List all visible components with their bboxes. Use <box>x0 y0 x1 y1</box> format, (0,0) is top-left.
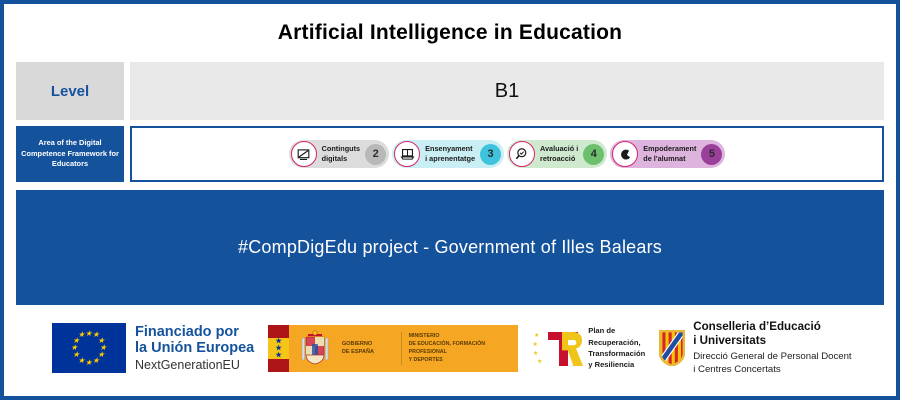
eu-star: ★ <box>275 338 281 345</box>
eu-star: ★ <box>85 359 92 367</box>
level-value-cell: B1 <box>130 62 884 120</box>
spain-gov-banner: ★ ★ ★ <box>268 325 518 372</box>
competence-badge-text: Empoderament de l'alumnat <box>643 144 696 164</box>
eu-star: ★ <box>72 351 79 359</box>
eu-star: ★ <box>78 331 85 339</box>
badge-line-2: de l'alumnat <box>643 154 685 163</box>
conselleria-line-1: Conselleria d’Educació <box>693 320 851 334</box>
competence-badge-ensenyament-i-aprenentatge[interactable]: Ensenyament i aprenentatge 3 <box>392 140 504 168</box>
eu-flag-icon: ★★★★★★★★★★★★ <box>52 323 126 373</box>
min-line-2: DE EDUCACIÓN, FORMACIÓN PROFESIONAL <box>409 340 519 356</box>
logo-conselleria-educacio: Conselleria d’Educació i Universitats Di… <box>659 320 851 377</box>
badge-line-1: Empoderament <box>643 144 696 153</box>
badge-line-2: retroacció <box>540 154 575 163</box>
level-label-cell: Level <box>16 62 124 120</box>
infographic-card: Artificial Intelligence in Education Lev… <box>0 0 900 400</box>
conselleria-text: Conselleria d’Educació i Universitats Di… <box>693 320 851 377</box>
footer-logos: ★★★★★★★★★★★★ Financiado por la Unión Eur… <box>4 305 896 391</box>
stripe-red-bottom <box>268 359 289 372</box>
stripe-yellow-stars: ★ ★ ★ <box>268 338 289 359</box>
spain-flag-stripes: ★ ★ ★ <box>268 325 289 372</box>
competence-badge-text: Ensenyament i aprenentatge <box>425 144 475 164</box>
conselleria-line-2: i Universitats <box>693 334 851 348</box>
eu-star: ★ <box>275 345 281 352</box>
level-value: B1 <box>495 80 519 103</box>
min-line-1: MINISTERIO <box>409 332 519 340</box>
eu-star: ★ <box>92 357 99 365</box>
logo-european-union: ★★★★★★★★★★★★ Financiado por la Unión Eur… <box>52 323 254 373</box>
eu-line-1: Financiado por <box>135 324 254 340</box>
stripe-red-top <box>268 325 289 338</box>
eu-logo-text: Financiado por la Unión Europea NextGene… <box>135 324 254 372</box>
prtr-monogram-icon: ★ ★ ★ ★ <box>532 325 584 371</box>
badge-line-1: Avaluació i <box>540 144 578 153</box>
ministerio-text: MINISTERIO DE EDUCACIÓN, FORMACIÓN PROFE… <box>402 325 519 372</box>
competence-badge-avaluacio-i-retroaccio[interactable]: Avaluació i retroacció 4 <box>507 140 607 168</box>
project-banner: #CompDigEdu project - Government of Ille… <box>16 190 884 305</box>
competence-badge-number: 5 <box>701 144 722 165</box>
eu-star: ★ <box>275 352 281 359</box>
project-banner-text: #CompDigEdu project - Government of Ille… <box>238 237 662 258</box>
prtr-text: Plan de Recuperación, Transformación y R… <box>588 325 645 371</box>
prtr-line-4: y Resiliencia <box>588 359 645 370</box>
spain-coat-of-arms-icon <box>289 325 342 372</box>
competence-badge-number: 3 <box>480 144 501 165</box>
prtr-line-3: Transformación <box>588 348 645 359</box>
logo-plan-recuperacion: ★ ★ ★ ★ Plan de Recuperación, Transforma… <box>532 325 645 371</box>
conselleria-line-3: Direcció General de Personal Docent <box>693 351 851 364</box>
prtr-line-2: Recuperación, <box>588 337 645 348</box>
eu-line-3: NextGenerationEU <box>135 358 254 372</box>
competence-badge-number: 4 <box>583 144 604 165</box>
badge-line-1: Continguts <box>322 144 361 153</box>
balearic-shield-icon <box>659 330 685 366</box>
gob-line-2: DE ESPAÑA <box>342 348 395 356</box>
level-label: Level <box>51 83 89 100</box>
eu-star: ★ <box>71 344 78 352</box>
prtr-line-1: Plan de <box>588 325 645 336</box>
competence-badge-continguts-digitals[interactable]: Continguts digitals 2 <box>289 140 390 168</box>
competence-badge-text: Continguts digitals <box>322 144 361 164</box>
title-row: Artificial Intelligence in Education <box>4 4 896 62</box>
page-title: Artificial Intelligence in Education <box>278 21 622 45</box>
competence-label: Area of the Digital Competence Framework… <box>21 138 119 170</box>
assessment-magnifier-icon <box>509 141 535 167</box>
competence-badge-text: Avaluació i retroacció <box>540 144 578 164</box>
eu-star: ★ <box>85 330 92 338</box>
digital-content-icon <box>291 141 317 167</box>
badge-line-2: digitals <box>322 154 348 163</box>
min-line-3: Y DEPORTES <box>409 356 519 364</box>
competence-label-cell: Area of the Digital Competence Framework… <box>16 126 124 182</box>
competence-row: Area of the Digital Competence Framework… <box>16 126 884 182</box>
competence-badge-empoderament-de-lalumnat[interactable]: Empoderament de l'alumnat 5 <box>610 140 725 168</box>
svg-text:★: ★ <box>534 332 539 339</box>
empowerment-icon <box>612 141 638 167</box>
competence-badge-number: 2 <box>365 144 386 165</box>
svg-text:★: ★ <box>533 341 538 348</box>
logo-gobierno-de-espana: ★ ★ ★ <box>268 325 518 372</box>
svg-text:★: ★ <box>537 358 542 365</box>
svg-text:★: ★ <box>533 350 538 357</box>
competence-badges-container: Continguts digitals 2 Ensenyament i apre… <box>130 126 884 182</box>
gob-line-1: GOBIERNO <box>342 340 395 348</box>
teaching-learning-icon <box>394 141 420 167</box>
gobierno-text: GOBIERNO DE ESPAÑA <box>342 325 401 372</box>
conselleria-line-4: i Centres Concertats <box>693 364 851 377</box>
level-row: Level B1 <box>16 62 884 120</box>
eu-line-2: la Unión Europea <box>135 340 254 356</box>
badge-line-1: Ensenyament <box>425 144 472 153</box>
badge-line-2: i aprenentatge <box>425 154 475 163</box>
